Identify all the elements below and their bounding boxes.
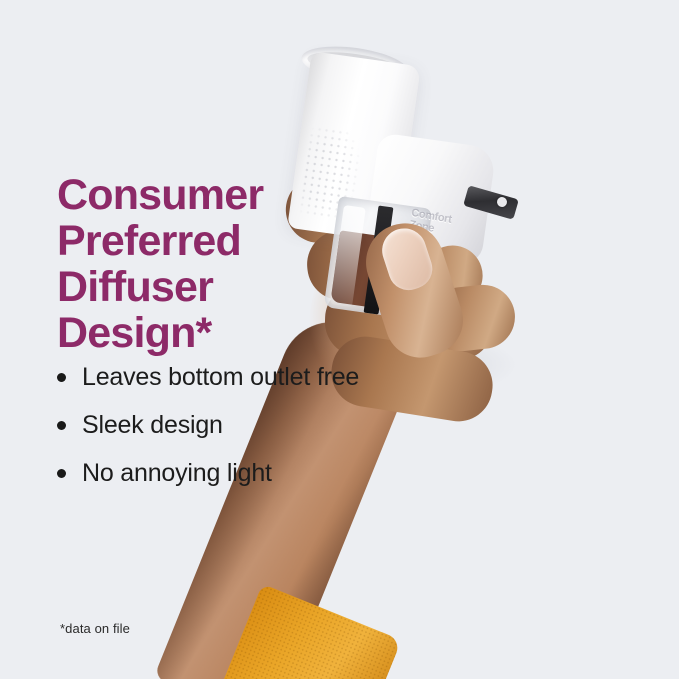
list-item-label: Sleek design bbox=[82, 412, 223, 439]
list-item: Sleek design bbox=[57, 412, 367, 439]
bullet-dot-icon bbox=[57, 469, 66, 478]
headline-line-4: Design* bbox=[57, 310, 357, 356]
headline-block: Consumer Preferred Diffuser Design* bbox=[57, 172, 357, 356]
footnote: *data on file bbox=[60, 621, 130, 636]
bullet-dot-icon bbox=[57, 373, 66, 382]
list-item-label: Leaves bottom outlet free bbox=[82, 364, 359, 391]
list-item-label: No annoying light bbox=[82, 460, 272, 487]
headline-line-2: Preferred bbox=[57, 218, 357, 264]
list-item: Leaves bottom outlet free bbox=[57, 364, 367, 391]
page-title: Consumer Preferred Diffuser Design* bbox=[57, 172, 357, 356]
list-item: No annoying light bbox=[57, 460, 367, 487]
headline-line-3: Diffuser bbox=[57, 264, 357, 310]
bullet-dot-icon bbox=[57, 421, 66, 430]
marketing-image-canvas: Comfort Zone Consumer Preferred Diffuser… bbox=[0, 0, 679, 679]
headline-line-1: Consumer bbox=[57, 172, 357, 218]
benefit-list: Leaves bottom outlet free Sleek design N… bbox=[57, 364, 367, 508]
